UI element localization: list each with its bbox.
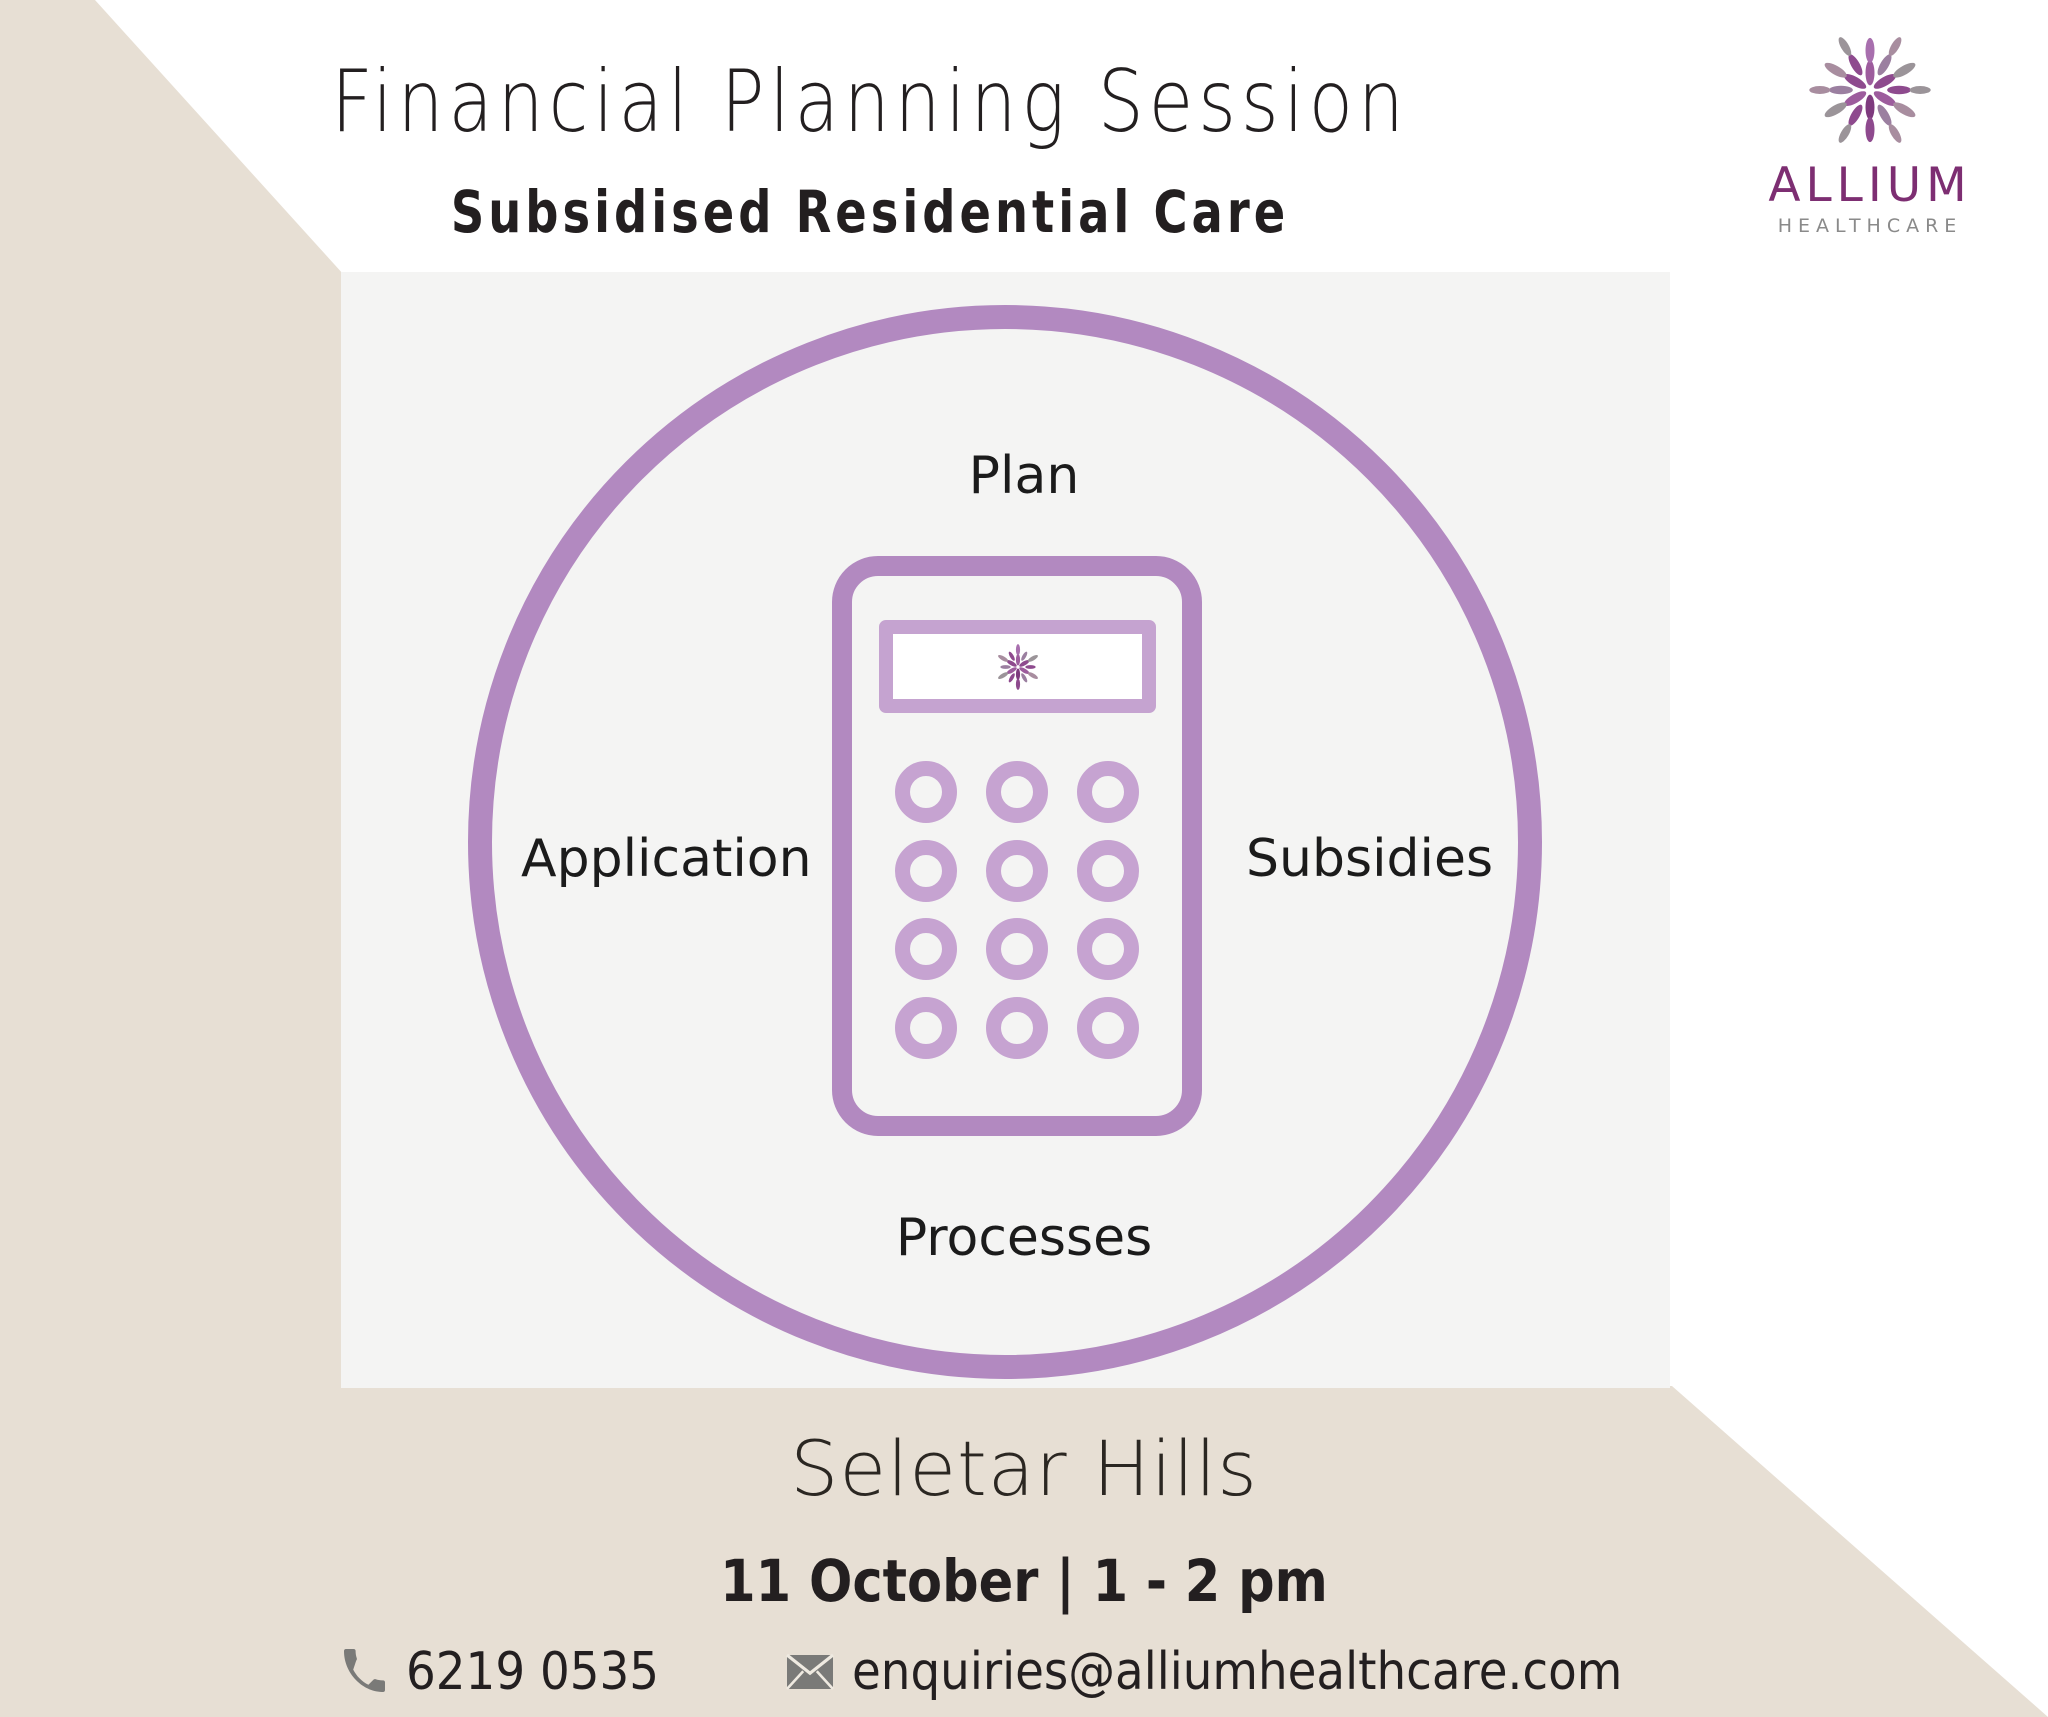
calculator-keypad [889, 758, 1145, 1062]
poster: Financial Planning Session Subsidised Re… [0, 0, 2048, 1717]
calculator-key [1077, 997, 1139, 1059]
calculator-key [1077, 840, 1139, 902]
calculator-screen [879, 620, 1156, 713]
ring-label-plan: Plan [0, 446, 2048, 506]
logo-tagline: HEALTHCARE [1750, 217, 1990, 236]
allium-logo: ALLIUM HEALTHCARE [1750, 24, 1990, 256]
ring-label-subsidies: Subsidies [1246, 829, 1493, 889]
phone-number: 6219 0535 [406, 1642, 659, 1702]
contact-row: 6219 0535 enquiries@alliumhealthcare.com [0, 1642, 2048, 1702]
calculator-key [986, 918, 1048, 980]
logo-wordmark: ALLIUM [1750, 162, 1990, 209]
page-subtitle: Subsidised Residential Care [174, 178, 1566, 246]
calculator-key [986, 840, 1048, 902]
calculator-key [1077, 761, 1139, 823]
allium-flower-icon [992, 641, 1044, 693]
page-title: Financial Planning Session [139, 52, 1601, 152]
calculator-key [895, 761, 957, 823]
contact-phone[interactable]: 6219 0535 [340, 1642, 687, 1702]
calculator-key [895, 840, 957, 902]
allium-flower-icon [1804, 24, 1936, 156]
envelope-icon [786, 1648, 834, 1696]
venue-name: Seletar Hills [0, 1424, 2048, 1513]
contact-email[interactable]: enquiries@alliumhealthcare.com [786, 1642, 1708, 1702]
ring-label-processes: Processes [0, 1208, 2048, 1268]
calculator-key [1077, 918, 1139, 980]
header: Financial Planning Session Subsidised Re… [0, 0, 1740, 272]
email-address: enquiries@alliumhealthcare.com [852, 1642, 1622, 1702]
calculator-key [986, 997, 1048, 1059]
calculator-key [895, 997, 957, 1059]
ring-label-application: Application [521, 829, 812, 889]
calculator-key [986, 761, 1048, 823]
calculator-key [895, 918, 957, 980]
phone-icon [340, 1648, 388, 1696]
event-datetime: 11 October | 1 - 2 pm [123, 1547, 1925, 1615]
